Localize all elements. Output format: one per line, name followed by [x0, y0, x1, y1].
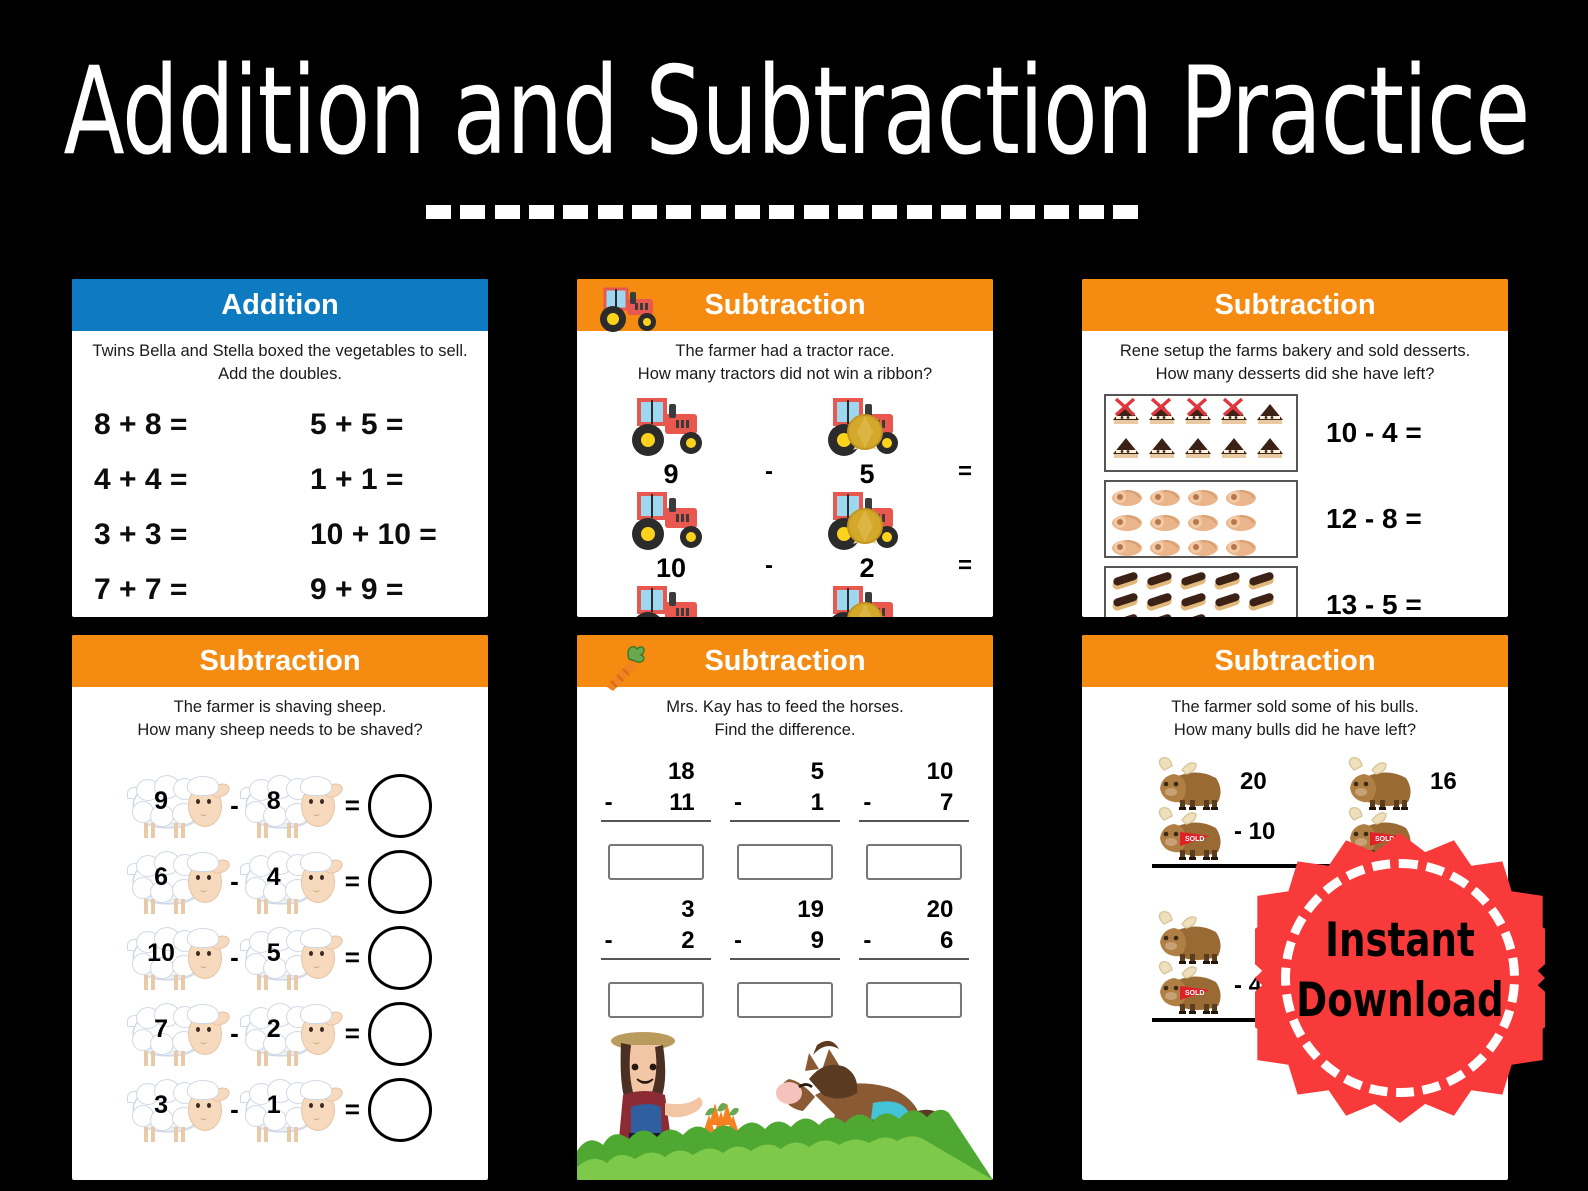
equals-sign: =: [937, 396, 993, 486]
addition-card-header: Addition: [72, 279, 488, 331]
minus-sign: -: [605, 927, 613, 955]
badge-line-2: Download: [1272, 971, 1527, 1031]
horses-subtraction-card[interactable]: Subtraction Mrs. Kay has to feed the hor…: [570, 628, 1000, 1187]
minus-sign: -: [230, 866, 239, 897]
equals-sign: =: [345, 1018, 360, 1049]
pastry-roll-icon: [1224, 511, 1258, 533]
cake-slice-icon: [1218, 434, 1250, 460]
tractor-right-cell: 5: [797, 396, 937, 490]
bakery-instruction-line-1: Rene setup the farms bakery and sold des…: [1096, 340, 1494, 363]
tractor-header-label: Subtraction: [704, 289, 865, 322]
minuend: 19: [730, 896, 840, 924]
addition-problem-grid: 8 + 8 = 5 + 5 = 4 + 4 = 1 + 1 = 3 + 3 = …: [72, 386, 488, 607]
sheep-number: 2: [241, 1015, 307, 1044]
subtrahend: 6: [940, 927, 953, 955]
minus-sign: -: [230, 1018, 239, 1049]
sheep-icon: 6: [128, 849, 228, 915]
eclair-icon: [1144, 614, 1174, 624]
eclair-icon: [1246, 572, 1276, 590]
worksheet-column-1: Addition Twins Bella and Stella boxed th…: [65, 268, 495, 1191]
bakery-equation: 12 - 8 =: [1326, 503, 1422, 535]
sheep-icon: 3: [128, 1077, 228, 1143]
sheep-header-label: Subtraction: [199, 645, 360, 678]
eclair-icon: [1212, 593, 1242, 611]
svg-text:SOLD: SOLD: [1185, 990, 1204, 997]
minus-sign: -: [863, 789, 871, 817]
addition-problem: 10 + 10 =: [286, 518, 478, 552]
sheep-subtraction-card[interactable]: Subtraction The farmer is shaving sheep.…: [65, 628, 495, 1187]
dessert-group-box: [1104, 480, 1298, 558]
addition-problem: 1 + 1 =: [286, 463, 478, 497]
ribbon-icon: [848, 415, 882, 450]
tractor-right-cell: 2: [797, 490, 937, 584]
sheep-problem-row: 6-4=: [72, 844, 488, 920]
bulls-minuend: 16: [1430, 768, 1457, 796]
bull-icon: [1152, 908, 1226, 964]
minus-sign: -: [741, 490, 797, 580]
eclair-icon: [1110, 572, 1140, 590]
minus-sign: -: [741, 396, 797, 486]
bull-icon: SOLD: [1152, 804, 1226, 860]
crossed-dessert: [1110, 400, 1142, 431]
tractor-problem-row: 9-5=: [577, 396, 993, 490]
addition-problem: 5 + 5 =: [286, 408, 478, 442]
tractor-left-number: 9: [601, 459, 741, 490]
cake-slice-icon: [1146, 434, 1178, 460]
tractor-icon: [623, 490, 719, 552]
bulls-instruction-line-2: How many bulls did he have left?: [1096, 719, 1494, 742]
eclair-icon: [1144, 593, 1174, 611]
tractor-left-number: 10: [601, 553, 741, 584]
bull-icon: [1342, 754, 1416, 810]
worksheet-column-2: Subtraction The farmer had a tractor rac…: [570, 268, 1000, 1191]
sheep-number: 6: [128, 863, 194, 892]
addition-instructions: Twins Bella and Stella boxed the vegetab…: [72, 331, 488, 386]
eclair-icon: [1144, 572, 1174, 590]
answer-circle[interactable]: [368, 926, 432, 990]
eclair-icon: [1110, 593, 1140, 611]
instant-download-badge[interactable]: Instant Download: [1255, 833, 1545, 1123]
ribbon-icon: [848, 509, 882, 544]
addition-problem: 3 + 3 =: [94, 518, 286, 552]
eclair-icon: [1246, 593, 1276, 611]
sheep-icon: 10: [128, 925, 228, 991]
sheep-card-header: Subtraction: [72, 635, 488, 687]
sheep-number: 5: [241, 939, 307, 968]
sheep-icon: 7: [128, 1001, 228, 1067]
addition-problem: 7 + 7 =: [94, 573, 286, 607]
sheep-problem-row: 9-8=: [72, 768, 488, 844]
eclair-icon: [1110, 614, 1140, 624]
minuend: 3: [601, 896, 711, 924]
bakery-problem-row: 12 - 8 =: [1082, 480, 1508, 558]
cross-out-icon: [1150, 397, 1172, 417]
addition-instruction-line-2: Add the doubles.: [86, 363, 474, 386]
sheep-number: 1: [241, 1091, 307, 1120]
vertical-subtraction-problem: 18-11: [601, 758, 711, 880]
tractor-icon: [819, 584, 915, 624]
subtrahend: 7: [940, 789, 953, 817]
cross-out-icon: [1114, 397, 1136, 417]
tractor-problem-list: 9-5=10-2=: [577, 386, 993, 624]
sheep-number: 10: [128, 939, 194, 968]
bakery-problem-row: 13 - 5 =: [1082, 566, 1508, 624]
horses-instruction-line-2: Find the difference.: [591, 719, 979, 742]
cross-out-icon: [1222, 397, 1244, 417]
title-dashed-divider: [426, 203, 1138, 221]
sheep-icon: 2: [241, 1001, 341, 1067]
sheep-problem-row: 3-1=: [72, 1072, 488, 1148]
pastry-roll-icon: [1186, 511, 1220, 533]
equals-sign: =: [345, 866, 360, 897]
pastry-roll-icon: [1110, 486, 1144, 508]
answer-box[interactable]: [866, 844, 962, 880]
dessert-group-box: [1104, 566, 1298, 624]
minus-sign: -: [605, 789, 613, 817]
page-title: Addition and Subtraction Practice: [64, 52, 1525, 173]
crossed-dessert: [1182, 400, 1214, 431]
bakery-subtraction-card[interactable]: Subtraction Rene setup the farms bakery …: [1075, 272, 1515, 624]
equals-sign: [937, 584, 993, 624]
cross-out-icon: [1186, 397, 1208, 417]
subtrahend: 9: [811, 927, 824, 955]
sheep-icon: 8: [241, 773, 341, 839]
tractor-subtraction-card[interactable]: Subtraction The farmer had a tractor rac…: [570, 272, 1000, 624]
sheep-instruction-line-1: The farmer is shaving sheep.: [86, 696, 474, 719]
tractor-icon: [819, 490, 915, 552]
minus-sign: -: [230, 1094, 239, 1125]
minuend: 10: [859, 758, 969, 786]
worksheet-preview-page: Addition and Subtraction Practice Additi…: [0, 0, 1588, 1191]
answer-box[interactable]: [608, 844, 704, 880]
equals-sign: =: [937, 490, 993, 580]
vertical-subtraction-problem: 10-7: [859, 758, 969, 880]
vertical-subtraction-problem: 5-1: [730, 758, 840, 880]
pastry-roll-icon: [1224, 486, 1258, 508]
bakery-card-header: Subtraction: [1082, 279, 1508, 331]
cake-slice-icon: [1110, 434, 1142, 460]
bull-icon: [1152, 754, 1226, 810]
sheep-instruction-line-2: How many sheep needs to be shaved?: [86, 719, 474, 742]
badge-line-1: Instant: [1272, 911, 1527, 971]
tractor-left-cell: [601, 584, 741, 624]
bulls-instruction-line-1: The farmer sold some of his bulls.: [1096, 696, 1494, 719]
subtrahend: 1: [811, 789, 824, 817]
bakery-instructions: Rene setup the farms bakery and sold des…: [1082, 331, 1508, 386]
tractor-icon: [623, 584, 719, 624]
sheep-instructions: The farmer is shaving sheep. How many sh…: [72, 687, 488, 742]
bull-icon: SOLD: [1152, 958, 1226, 1014]
equals-sign: =: [345, 942, 360, 973]
pastry-roll-icon: [1186, 536, 1220, 558]
crossed-dessert: [1146, 400, 1178, 431]
bulls-header-label: Subtraction: [1214, 645, 1375, 678]
tractor-left-cell: 10: [601, 490, 741, 584]
eclair-icon: [1178, 572, 1208, 590]
tractor-icon: [623, 396, 719, 458]
answer-box[interactable]: [737, 844, 833, 880]
sheep-number: 7: [128, 1015, 194, 1044]
tractor-right-number: 2: [797, 553, 937, 584]
minus-sign: [741, 584, 797, 624]
minuend: 5: [730, 758, 840, 786]
minuend: 20: [859, 896, 969, 924]
tractor-icon: [819, 396, 915, 458]
sheep-icon: 9: [128, 773, 228, 839]
horses-problem-row-1: 18-115-110-7: [577, 742, 993, 880]
pastry-roll-icon: [1148, 536, 1182, 558]
addition-problem: 9 + 9 =: [286, 573, 478, 607]
equals-sign: =: [345, 1094, 360, 1125]
tractor-instruction-line-1: The farmer had a tractor race.: [591, 340, 979, 363]
equals-sign: =: [345, 790, 360, 821]
addition-problem: 4 + 4 =: [94, 463, 286, 497]
pastry-roll-icon: [1148, 511, 1182, 533]
subtrahend: 11: [669, 789, 694, 817]
bulls-instructions: The farmer sold some of his bulls. How m…: [1082, 687, 1508, 742]
badge-label: Instant Download: [1272, 911, 1527, 1031]
minus-sign: -: [230, 942, 239, 973]
pastry-roll-icon: [1148, 486, 1182, 508]
pastry-roll-icon: [1110, 536, 1144, 558]
bakery-header-label: Subtraction: [1214, 289, 1375, 322]
answer-circle[interactable]: [368, 850, 432, 914]
horses-header-label: Subtraction: [704, 645, 865, 678]
minus-sign: -: [230, 790, 239, 821]
cake-slice-icon: [1254, 400, 1286, 426]
minus-sign: -: [734, 789, 742, 817]
horses-card-header: Subtraction: [577, 635, 993, 687]
sheep-problem-list: 9-8=6-4=10-5=7-2=3-1=: [72, 742, 488, 1148]
eclair-icon: [1178, 593, 1208, 611]
dessert-group-box: [1104, 394, 1298, 472]
addition-instruction-line-1: Twins Bella and Stella boxed the vegetab…: [86, 340, 474, 363]
tractor-icon: [591, 285, 665, 343]
minus-sign: -: [734, 927, 742, 955]
minus-sign: -: [863, 927, 871, 955]
pastry-roll-icon: [1224, 536, 1258, 558]
answer-circle[interactable]: [368, 774, 432, 838]
title-banner: Addition and Subtraction Practice: [0, 0, 1588, 268]
addition-worksheet-card[interactable]: Addition Twins Bella and Stella boxed th…: [65, 272, 495, 624]
bulls-card-header: Subtraction: [1082, 635, 1508, 687]
svg-text:SOLD: SOLD: [1185, 836, 1204, 843]
bulls-minuend: 20: [1240, 768, 1267, 796]
tractor-right-cell: [797, 584, 937, 624]
addition-header-label: Addition: [221, 289, 339, 322]
carrot-icon: [591, 641, 651, 701]
bakery-instruction-line-2: How many desserts did she have left?: [1096, 363, 1494, 386]
bakery-problem-list: 10 - 4 =12 - 8 =13 - 5 =: [1082, 394, 1508, 624]
sheep-icon: 1: [241, 1077, 341, 1143]
subtrahend: 2: [681, 927, 694, 955]
eclair-icon: [1178, 614, 1208, 624]
minuend: 18: [601, 758, 711, 786]
pastry-roll-icon: [1186, 486, 1220, 508]
answer-circle[interactable]: [368, 1078, 432, 1142]
answer-circle[interactable]: [368, 1002, 432, 1066]
sheep-problem-row: 7-2=: [72, 996, 488, 1072]
sheep-number: 8: [241, 787, 307, 816]
farm-scene-illustration: [577, 975, 993, 1180]
cake-slice-icon: [1182, 434, 1214, 460]
crossed-dessert: [1218, 400, 1250, 431]
tractor-left-cell: 9: [601, 396, 741, 490]
pastry-roll-icon: [1110, 511, 1144, 533]
tractor-instruction-line-2: How many tractors did not win a ribbon?: [591, 363, 979, 386]
cake-slice-icon: [1254, 434, 1286, 460]
sheep-icon: 5: [241, 925, 341, 991]
sheep-number: 4: [241, 863, 307, 892]
tractor-right-number: 5: [797, 459, 937, 490]
sheep-problem-row: 10-5=: [72, 920, 488, 996]
sheep-number: 3: [128, 1091, 194, 1120]
sheep-icon: 4: [241, 849, 341, 915]
eclair-icon: [1212, 572, 1242, 590]
bakery-problem-row: 10 - 4 =: [1082, 394, 1508, 472]
bakery-equation: 13 - 5 =: [1326, 589, 1422, 621]
bakery-equation: 10 - 4 =: [1326, 417, 1422, 449]
sheep-number: 9: [128, 787, 194, 816]
tractor-problem-row: 10-2=: [577, 490, 993, 584]
tractor-card-header: Subtraction: [577, 279, 993, 331]
addition-problem: 8 + 8 =: [94, 408, 286, 442]
tractor-problem-row: [577, 584, 993, 624]
